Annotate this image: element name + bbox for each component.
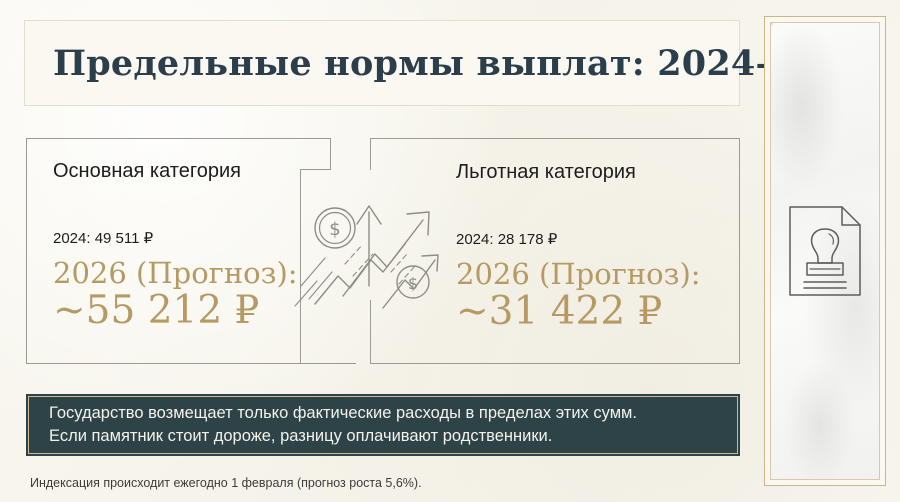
header-band: Предельные нормы выплат: 2024–2026: [24, 20, 740, 106]
card-benefit-forecast-value: ~31 422 ₽: [456, 292, 713, 333]
card-benefit-forecast-label: 2026 (Прогноз):: [456, 259, 713, 290]
card-benefit-title: Льготная категория: [456, 161, 713, 183]
document-stamp-icon: [782, 201, 868, 301]
card-main-border-top: [26, 138, 331, 139]
card-benefit-previous-amount: 2024: 28 178 ₽: [456, 230, 713, 248]
card-benefit-border-left-upper: [370, 138, 371, 170]
card-main-previous-amount: 2024: 49 511 ₽: [53, 229, 330, 247]
footnote-text: Индексация происходит ежегодно 1 февраля…: [30, 476, 422, 490]
notice-banner: Государство возмещает только фактические…: [26, 394, 740, 456]
card-benefit-category: Льготная категория 2024: 28 178 ₽ 2026 (…: [370, 138, 740, 364]
card-main-title: Основная категория: [53, 160, 330, 182]
card-main-border-right: [300, 169, 301, 364]
card-main-category: Основная категория 2024: 49 511 ₽ 2026 (…: [26, 138, 356, 364]
page-title: Предельные нормы выплат: 2024–2026: [53, 43, 871, 84]
notice-line-1: Государство возмещает только фактические…: [49, 402, 737, 425]
slide-canvas: Предельные нормы выплат: 2024–2026 Основ…: [0, 0, 900, 502]
notice-line-2: Если памятник стоит дороже, разницу опла…: [49, 425, 737, 448]
card-benefit-border-left-lower: [370, 300, 371, 364]
card-main-border-step-upper: [330, 138, 331, 169]
card-main-forecast-label: 2026 (Прогноз):: [53, 258, 330, 289]
card-main-forecast-value: ~55 212 ₽: [53, 291, 330, 332]
card-main-border-step-horizontal: [300, 169, 331, 170]
marble-side-panel: [764, 16, 886, 486]
